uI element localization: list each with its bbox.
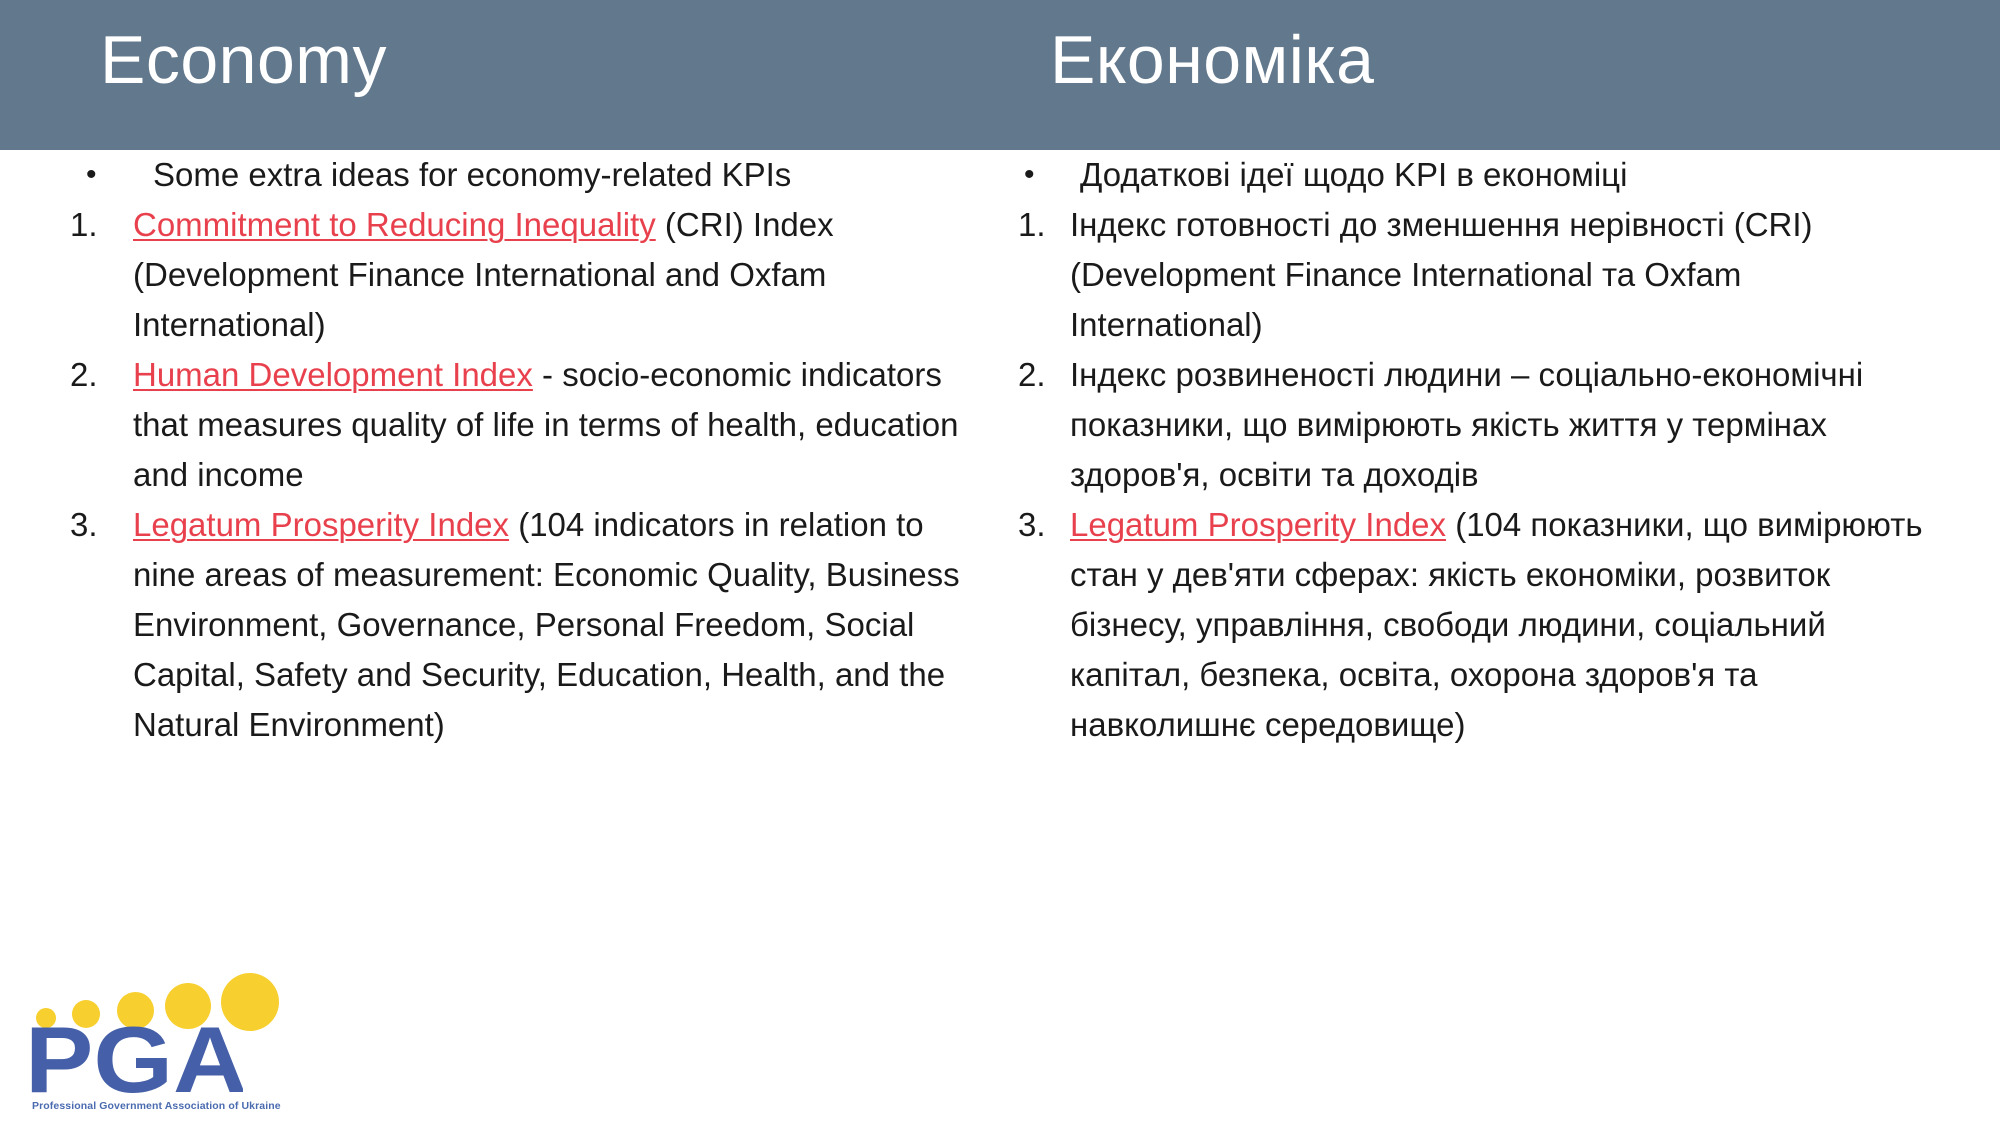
numbered-marker: 2. xyxy=(70,350,133,400)
link-legatum-prosperity-index[interactable]: Legatum Prosperity Index xyxy=(133,506,509,543)
list-item: 1. Індекс готовності до зменшення нерівн… xyxy=(1018,200,1938,350)
list-item-text: Індекс готовності до зменшення нерівност… xyxy=(1070,200,1938,350)
numbered-marker: 2. xyxy=(1018,350,1070,400)
list-item: 2. Human Development Index - socio-econo… xyxy=(70,350,990,500)
page-title-english: Economy xyxy=(100,26,387,94)
page-title-ukrainian: Економіка xyxy=(1050,26,1374,94)
list-english: • Some extra ideas for economy-related K… xyxy=(70,150,990,750)
list-item-text: Commitment to Reducing Inequality (CRI) … xyxy=(133,200,990,350)
numbered-marker: 1. xyxy=(1018,200,1070,250)
list-item-text: Індекс розвиненості людини – соціально-е… xyxy=(1070,350,1938,500)
list-item: 2. Індекс розвиненості людини – соціальн… xyxy=(1018,350,1938,500)
list-item-text: Legatum Prosperity Index (104 показники,… xyxy=(1070,500,1938,750)
list-item-rest: Індекс готовності до зменшення нерівност… xyxy=(1070,206,1813,343)
list-item-text: Legatum Prosperity Index (104 indicators… xyxy=(133,500,990,750)
link-human-development-index[interactable]: Human Development Index xyxy=(133,356,533,393)
list-item-rest: Індекс розвиненості людини – соціально-е… xyxy=(1070,356,1863,493)
list-item: 1. Commitment to Reducing Inequality (CR… xyxy=(70,200,990,350)
slide-root: Economy Економіка • Some extra ideas for… xyxy=(0,0,2000,1125)
logo-wordmark: PGA xyxy=(28,1022,243,1092)
content-columns: • Some extra ideas for economy-related K… xyxy=(0,150,2000,1125)
list-item: 3. Legatum Prosperity Index (104 indicat… xyxy=(70,500,990,750)
list-ukrainian: • Додаткові ідеї щодо KPI в економіці 1.… xyxy=(1018,150,1938,750)
bullet-marker: • xyxy=(70,150,149,200)
list-item-text: Human Development Index - socio-economic… xyxy=(133,350,990,500)
list-item: • Додаткові ідеї щодо KPI в економіці xyxy=(1018,150,1938,200)
link-cri-index[interactable]: Commitment to Reducing Inequality xyxy=(133,206,656,243)
numbered-marker: 3. xyxy=(70,500,133,550)
column-english: • Some extra ideas for economy-related K… xyxy=(70,150,990,750)
list-item-text: Додаткові ідеї щодо KPI в економіці xyxy=(1076,150,1938,200)
link-legatum-prosperity-index-uk[interactable]: Legatum Prosperity Index xyxy=(1070,506,1446,543)
logo-wordmark-text: PGA xyxy=(28,1022,243,1094)
list-item: 3. Legatum Prosperity Index (104 показни… xyxy=(1018,500,1938,750)
numbered-marker: 3. xyxy=(1018,500,1070,550)
pga-logo: PGA Professional Government Association … xyxy=(28,978,243,1113)
list-item-text: Some extra ideas for economy-related KPI… xyxy=(149,150,990,200)
bullet-marker: • xyxy=(1018,150,1076,200)
numbered-marker: 1. xyxy=(70,200,133,250)
list-item: • Some extra ideas for economy-related K… xyxy=(70,150,990,200)
header-band: Economy Економіка xyxy=(0,0,2000,150)
column-ukrainian: • Додаткові ідеї щодо KPI в економіці 1.… xyxy=(1018,150,1938,750)
logo-tagline: Professional Government Association of U… xyxy=(32,1100,262,1112)
